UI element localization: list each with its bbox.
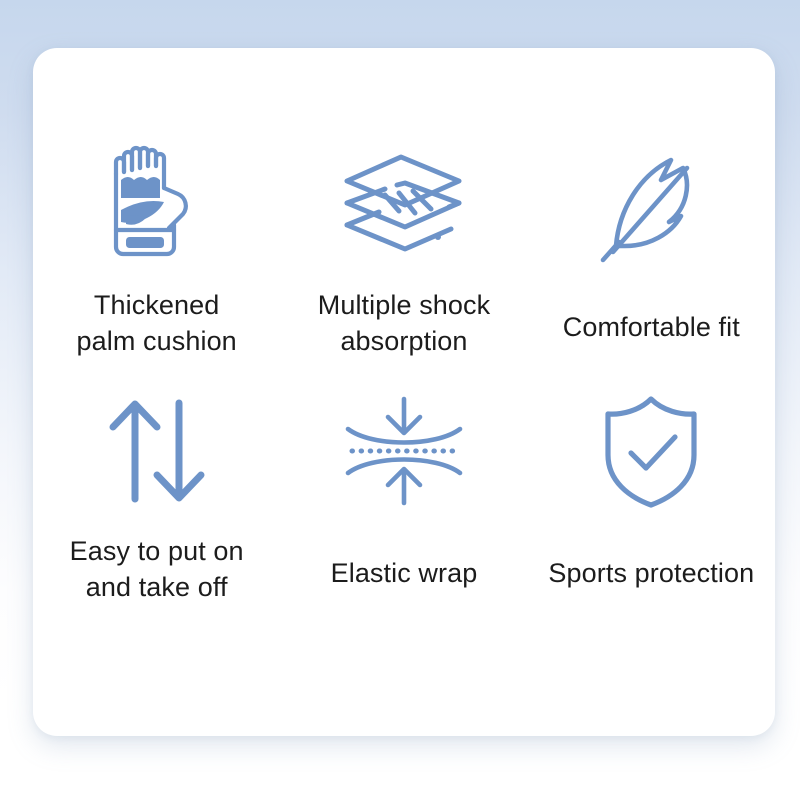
feature-item-thickened-palm-cushion[interactable]: Thickened palm cushion	[33, 144, 280, 360]
up-down-arrows-icon	[105, 390, 209, 512]
shield-check-icon	[599, 390, 703, 512]
padded-glove-icon	[103, 144, 211, 266]
feature-item-multiple-shock-absorption[interactable]: Multiple shock absorption	[280, 144, 527, 360]
feature-label: Elastic wrap	[331, 556, 478, 592]
page-root: Thickened palm cushion	[0, 0, 800, 800]
feather-icon	[595, 144, 707, 266]
feature-label: Sports protection	[548, 556, 754, 592]
feature-card: Thickened palm cushion	[33, 48, 775, 736]
feature-item-sports-protection[interactable]: Sports protection	[528, 390, 775, 592]
compression-elastic-icon	[342, 390, 466, 512]
feature-item-comfortable-fit[interactable]: Comfortable fit	[528, 144, 775, 346]
feature-label: Thickened palm cushion	[77, 288, 237, 360]
stacked-layers-icon	[339, 144, 469, 266]
feature-grid: Thickened palm cushion	[33, 144, 775, 636]
feature-label: Comfortable fit	[563, 310, 740, 346]
feature-label: Multiple shock absorption	[318, 288, 490, 360]
feature-item-easy-to-put-on[interactable]: Easy to put on and take off	[33, 390, 280, 606]
feature-item-elastic-wrap[interactable]: Elastic wrap	[280, 390, 527, 592]
feature-label: Easy to put on and take off	[70, 534, 244, 606]
